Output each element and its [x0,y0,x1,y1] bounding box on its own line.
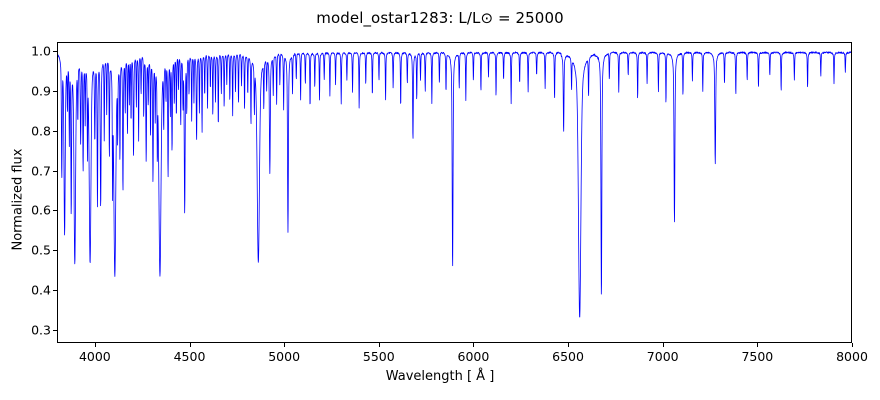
x-tick-mark [473,343,474,347]
y-tick-mark [53,171,57,172]
spectrum-figure: model_ostar1283: L/L⊙ = 25000 0.30.40.50… [0,0,880,400]
x-tick-label: 4000 [79,349,111,364]
y-tick-mark [53,91,57,92]
x-tick-label: 7000 [647,349,679,364]
y-tick-mark [53,51,57,52]
page-title: model_ostar1283: L/L⊙ = 25000 [0,9,880,27]
x-axis-tick-labels: 400045005000550060006500700075008000 [0,349,880,369]
y-axis-label: Normalized flux [11,90,26,310]
y-tick-mark [53,131,57,132]
plot-area [57,42,852,343]
spectrum-line-series [58,43,851,342]
x-tick-label: 6000 [458,349,490,364]
x-tick-mark [852,343,853,347]
x-tick-mark [663,343,664,347]
y-tick-mark [53,330,57,331]
x-tick-mark [379,343,380,347]
x-tick-mark [568,343,569,347]
x-tick-label: 8000 [836,349,868,364]
y-tick-mark [53,290,57,291]
x-tick-mark [757,343,758,347]
x-axis-label: Wavelength [ Å ] [0,369,880,384]
x-tick-label: 7500 [741,349,773,364]
x-tick-label: 6500 [552,349,584,364]
x-tick-mark [284,343,285,347]
y-tick-mark [53,250,57,251]
x-tick-label: 5500 [363,349,395,364]
y-axis-tick-labels: 0.30.40.50.60.70.80.91.0 [0,0,51,400]
x-tick-label: 5000 [268,349,300,364]
x-tick-mark [190,343,191,347]
y-tick-label: 1.0 [5,43,51,58]
x-tick-mark [95,343,96,347]
y-tick-label: 0.3 [5,323,51,338]
y-tick-mark [53,210,57,211]
x-tick-label: 4500 [174,349,206,364]
spectrum-trace [58,52,851,317]
